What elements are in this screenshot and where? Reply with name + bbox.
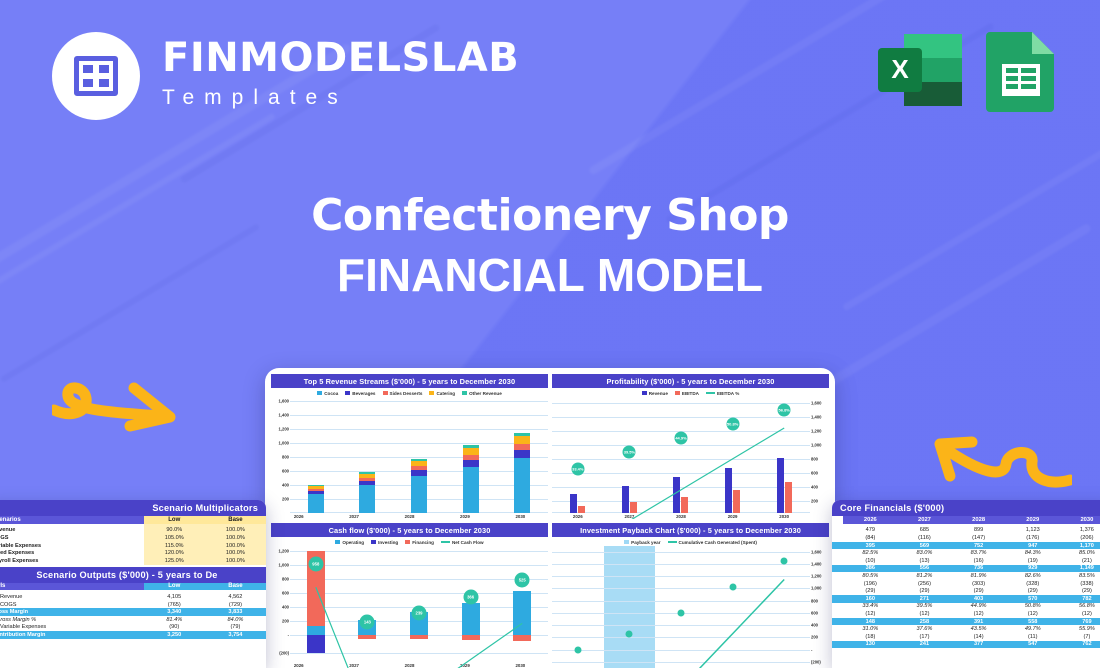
y-tick: 600 xyxy=(811,471,818,476)
hero-line-1: Confectionery Shop xyxy=(0,190,1100,242)
plot-area: 1,200 1,000 800 600 400 200 - (200) xyxy=(271,546,548,663)
data-point xyxy=(729,584,736,591)
cell: (196) xyxy=(843,580,897,588)
y-axis: 1,600 1,400 1,200 1,000 800 600 400 200 … xyxy=(810,546,829,668)
cell: 82.5% xyxy=(843,549,897,557)
cell: 769 xyxy=(1060,618,1100,626)
cell-low: (765) xyxy=(144,601,205,609)
col-header-2029: 2029 xyxy=(1006,516,1060,524)
y-tick: 400 xyxy=(282,605,289,610)
cell: 39.5% xyxy=(897,603,951,611)
cell: 685 xyxy=(897,527,951,535)
cell: (29) xyxy=(1006,587,1060,595)
y-axis: 1,600 1,400 1,200 1,000 800 600 400 200 xyxy=(271,397,290,514)
trend-line xyxy=(552,546,810,668)
cell: 84.3% xyxy=(1006,549,1060,557)
data-label-bubble: 39.5% xyxy=(623,446,636,459)
cell: (12) xyxy=(1006,610,1060,618)
legend-label: Sides Desserts xyxy=(390,391,423,396)
cell-base: 3,754 xyxy=(205,631,266,639)
col-header-2026: 2026 xyxy=(843,516,897,524)
table-row: (12) (12) (12) (12) (12) xyxy=(832,610,1100,618)
chart-title: Investment Payback Chart ($'000) - 5 yea… xyxy=(552,523,829,537)
table-row: Contribution Margin3,2503,754 xyxy=(0,631,266,639)
y-tick: 1,000 xyxy=(811,443,821,448)
table-row: Gross Margin3,3403,833 xyxy=(0,608,266,616)
legend-label: Payback year xyxy=(631,540,660,545)
cell: 271 xyxy=(897,595,951,603)
chart-investment-payback[interactable]: Investment Payback Chart ($'000) - 5 yea… xyxy=(552,523,829,668)
y-tick: 600 xyxy=(811,610,818,615)
data-point xyxy=(626,630,633,637)
curved-arrow-left-icon xyxy=(922,398,1072,495)
table-row: COGS(765)(729) xyxy=(0,601,266,609)
table-row: 82.5% 83.0% 83.7% 84.3% 85.0% xyxy=(832,549,1100,557)
cell-base: 100.0% xyxy=(205,557,266,565)
plot-area: 1,600 1,400 1,200 1,000 800 600 400 200 xyxy=(271,397,548,514)
cell: 752 xyxy=(952,542,1006,550)
scenario-multiplicators-banner: Scenario Multiplicators xyxy=(0,500,266,516)
data-label-bubble: 33.4% xyxy=(571,462,584,475)
y-axis: 1,600 1,400 1,200 1,000 800 600 400 200 xyxy=(810,397,829,514)
cell: 148 xyxy=(843,618,897,626)
logo-badge xyxy=(52,32,140,120)
table-row: (29) (29) (29) (29) (29) xyxy=(832,587,1100,595)
cell-base: 100.0% xyxy=(205,549,266,557)
legend-label: Other Revenue xyxy=(469,391,502,396)
col-header-2028: 2028 xyxy=(952,516,1006,524)
cell: 736 xyxy=(952,565,1006,573)
cell: (84) xyxy=(843,534,897,542)
cell: 160 xyxy=(843,595,897,603)
cell: 37.6% xyxy=(897,625,951,633)
cell: 1,376 xyxy=(1060,527,1100,535)
y-tick: 1,200 xyxy=(811,574,821,579)
legend-item: Sides Desserts xyxy=(383,391,423,396)
bar-series xyxy=(290,397,548,514)
data-label-bubble: 143 xyxy=(360,615,375,630)
cell: (12) xyxy=(897,610,951,618)
y-tick: 600 xyxy=(282,591,289,596)
cell: (19) xyxy=(1006,557,1060,565)
legend-label: Net Cash Flow xyxy=(452,540,484,545)
table-row: 80.5% 81.2% 81.9% 82.6% 83.5% xyxy=(832,572,1100,580)
cell: (176) xyxy=(1006,534,1060,542)
cell-low: 125.0% xyxy=(144,557,205,565)
y-tick: 200 xyxy=(282,619,289,624)
table-header-row: Scenarios Low Base xyxy=(0,516,266,524)
cell: 556 xyxy=(897,565,951,573)
chart-profitability[interactable]: Profitability ($'000) - 5 years to Decem… xyxy=(552,374,829,519)
row-label: Fixed Expenses xyxy=(0,549,144,557)
plot-area: 33.4% 39.5% 44.9% 50.8% 56.8% 1,600 1,40… xyxy=(552,397,829,514)
cell: 391 xyxy=(952,618,1006,626)
x-tick: 2027 xyxy=(326,514,381,519)
y-tick: 200 xyxy=(282,497,289,502)
row-label: Payroll Expenses xyxy=(0,557,144,565)
table-row: 395 569 752 947 1,170 xyxy=(832,542,1100,550)
plot-canvas xyxy=(290,397,548,514)
data-label-bubble: 958 xyxy=(308,557,323,572)
cell-base: 100.0% xyxy=(205,534,266,542)
table-row: 160 271 403 570 782 xyxy=(832,595,1100,603)
cell: 386 xyxy=(843,565,897,573)
cell: 241 xyxy=(897,641,951,649)
hero-title-block: Confectionery Shop FINANCIAL MODEL xyxy=(0,190,1100,302)
cell: 377 xyxy=(952,641,1006,649)
data-label-bubble: 56.8% xyxy=(778,404,791,417)
legend-label: EBITDA % xyxy=(717,391,739,396)
cell: 558 xyxy=(1006,618,1060,626)
y-tick: 1,200 xyxy=(279,549,289,554)
chart-legend: Cocoa Beverages Sides Desserts Catering … xyxy=(271,388,548,397)
col-header-2030: 2030 xyxy=(1060,516,1100,524)
cell-low: 90.0% xyxy=(144,527,205,535)
core-financials-banner: Core Financials ($'000) xyxy=(832,500,1100,516)
y-tick: (200) xyxy=(811,659,821,664)
chart-legend: Revenue EBITDA EBITDA % xyxy=(552,388,829,397)
cell: 85.0% xyxy=(1060,549,1100,557)
cell: 130 xyxy=(843,641,897,649)
x-axis: 2026 2027 2028 2029 2030 xyxy=(271,513,548,519)
cell: (16) xyxy=(952,557,1006,565)
col-header-kpis: KPIs xyxy=(0,583,144,591)
legend-item: Beverages xyxy=(345,391,375,396)
cell-base: 4,562 xyxy=(205,593,266,601)
scenario-multiplicators-table[interactable]: Scenarios Low Base Revenue90.0%100.0% CO… xyxy=(0,516,266,565)
table-row: 33.4% 39.5% 44.9% 50.8% 56.8% xyxy=(832,603,1100,611)
core-financials-table[interactable]: 2026 2027 2028 2029 2030 479 685 899 1,1… xyxy=(832,516,1100,648)
table-row: 479 685 899 1,123 1,376 xyxy=(832,527,1100,535)
chart-title: Profitability ($'000) - 5 years to Decem… xyxy=(552,374,829,388)
cell: (256) xyxy=(897,580,951,588)
table-row: Revenue90.0%100.0% xyxy=(0,527,266,535)
plot-canvas xyxy=(552,546,810,668)
cell-base: 3,833 xyxy=(205,608,266,616)
cell: 403 xyxy=(952,595,1006,603)
x-tick: 2029 xyxy=(437,514,492,519)
cell: 258 xyxy=(897,618,951,626)
cell: (14) xyxy=(952,633,1006,641)
cell: 569 xyxy=(897,542,951,550)
data-point xyxy=(781,558,788,565)
legend-label: Cumulative Cash Generated (Spent) xyxy=(679,540,757,545)
cell: (338) xyxy=(1060,580,1100,588)
legend-item: Revenue xyxy=(642,391,668,396)
legend-item: Catering xyxy=(429,391,455,396)
table-row: 386 556 736 929 1,149 xyxy=(832,565,1100,573)
row-label: COGS xyxy=(0,601,144,609)
cell: 1,170 xyxy=(1060,542,1100,550)
y-tick: 1,400 xyxy=(811,415,821,420)
legend-label: Operating xyxy=(342,540,364,545)
chart-title: Top 5 Revenue Streams ($'000) - 5 years … xyxy=(271,374,548,388)
x-tick: 2028 xyxy=(382,514,437,519)
chart-legend: Operating Investing Financing Net Cash F… xyxy=(271,537,548,546)
y-tick: 1,000 xyxy=(279,563,289,568)
cell: 44.9% xyxy=(952,603,1006,611)
cell-low: 4,105 xyxy=(144,593,205,601)
legend-item: Payback year xyxy=(624,540,660,545)
row-label: Contribution Margin xyxy=(0,631,144,639)
cell: (206) xyxy=(1060,534,1100,542)
dashboard-preview[interactable]: Top 5 Revenue Streams ($'000) - 5 years … xyxy=(265,368,835,668)
legend-label: Financing xyxy=(412,540,434,545)
cell-low: 115.0% xyxy=(144,542,205,550)
brand-tagline: Templates xyxy=(162,82,519,114)
core-financials-panel[interactable]: Core Financials ($'000) 2026 2027 2028 2… xyxy=(832,500,1100,668)
y-tick: 1,400 xyxy=(279,413,289,418)
cell: 82.6% xyxy=(1006,572,1060,580)
y-tick: - xyxy=(288,633,289,638)
cell: (18) xyxy=(843,633,897,641)
svg-text:X: X xyxy=(891,54,909,84)
cell-low: 3,250 xyxy=(144,631,205,639)
scenario-outputs-table[interactable]: KPIs Low Base Revenue4,1054,562 COGS(765… xyxy=(0,583,266,639)
y-tick: 200 xyxy=(811,635,818,640)
table-header-row: 2026 2027 2028 2029 2030 xyxy=(832,516,1100,524)
y-tick: 800 xyxy=(811,598,818,603)
table-row: (84) (116) (147) (176) (206) xyxy=(832,534,1100,542)
y-tick: - xyxy=(811,647,812,652)
file-format-icons: X xyxy=(876,28,1060,116)
col-header-base: Base xyxy=(205,516,266,524)
cell-low: (90) xyxy=(144,624,205,632)
cell: 83.0% xyxy=(897,549,951,557)
scenario-panel[interactable]: Scenario Multiplicators Scenarios Low Ba… xyxy=(0,500,266,668)
cell: 1,149 xyxy=(1060,565,1100,573)
cell: 43.5% xyxy=(952,625,1006,633)
legend-item: Investing xyxy=(371,540,398,545)
plot-canvas: 958 143 239 366 525 xyxy=(290,546,548,663)
col-header-base: Base xyxy=(205,583,266,591)
data-label-bubble: 366 xyxy=(463,589,478,604)
cell: (29) xyxy=(952,587,1006,595)
cell-low: 120.0% xyxy=(144,549,205,557)
hero-line-2: FINANCIAL MODEL xyxy=(0,248,1100,302)
chart-legend: Payback year Cumulative Cash Generated (… xyxy=(552,537,829,546)
chart-cash-flow[interactable]: Cash flow ($'000) - 5 years to December … xyxy=(271,523,548,668)
legend-item: Financing xyxy=(405,540,434,545)
col-header-scenarios: Scenarios xyxy=(0,516,144,524)
cell-base: 100.0% xyxy=(205,542,266,550)
legend-item: Net Cash Flow xyxy=(441,540,484,545)
grid-logo-icon xyxy=(74,56,118,96)
y-tick: 400 xyxy=(811,623,818,628)
cell: 479 xyxy=(843,527,897,535)
cell: 1,123 xyxy=(1006,527,1060,535)
curved-arrow-right-icon xyxy=(52,352,187,442)
legend-label: Cocoa xyxy=(324,391,338,396)
plot-area: 1,600 1,400 1,200 1,000 800 600 400 200 … xyxy=(552,546,829,668)
row-label: Gross Margin % xyxy=(0,616,144,624)
table-header-row: KPIs Low Base xyxy=(0,583,266,591)
chart-title: Cash flow ($'000) - 5 years to December … xyxy=(271,523,548,537)
cell: 83.5% xyxy=(1060,572,1100,580)
data-label-bubble: 50.8% xyxy=(726,418,739,431)
cell-low: 3,340 xyxy=(144,608,205,616)
legend-item: Other Revenue xyxy=(462,391,502,396)
cell-base: 84.0% xyxy=(205,616,266,624)
legend-label: Catering xyxy=(436,391,455,396)
cell: 395 xyxy=(843,542,897,550)
table-row: Variable Expenses(90)(79) xyxy=(0,624,266,632)
brand-name: FINMODELSLAB xyxy=(162,38,519,78)
cell-base: 100.0% xyxy=(205,527,266,535)
plot-canvas: 33.4% 39.5% 44.9% 50.8% 56.8% xyxy=(552,397,810,514)
cell: (11) xyxy=(1006,633,1060,641)
table-row: Revenue4,1054,562 xyxy=(0,593,266,601)
y-axis: 1,200 1,000 800 600 400 200 - (200) xyxy=(271,546,290,663)
cell: (13) xyxy=(897,557,951,565)
y-tick: 800 xyxy=(282,455,289,460)
table-row: Gross Margin %81.4%84.0% xyxy=(0,616,266,624)
y-tick: 800 xyxy=(811,457,818,462)
legend-item: Cumulative Cash Generated (Spent) xyxy=(668,540,757,545)
cell: 762 xyxy=(1060,641,1100,649)
legend-label: EBITDA xyxy=(682,391,699,396)
cell: (29) xyxy=(1060,587,1100,595)
brand-logo: FINMODELSLAB Templates xyxy=(52,32,519,120)
cell: (116) xyxy=(897,534,951,542)
legend-item: EBITDA % xyxy=(706,391,739,396)
data-label-bubble: 44.9% xyxy=(675,432,688,445)
table-row: (196) (256) (303) (328) (338) xyxy=(832,580,1100,588)
data-point xyxy=(678,609,685,616)
cell: (147) xyxy=(952,534,1006,542)
cell-low: 81.4% xyxy=(144,616,205,624)
cell: 899 xyxy=(952,527,1006,535)
legend-item: Operating xyxy=(335,540,364,545)
row-label: Revenue xyxy=(0,593,144,601)
x-tick: 2030 xyxy=(493,514,548,519)
cell: (12) xyxy=(843,610,897,618)
y-tick: 400 xyxy=(282,483,289,488)
y-tick: 400 xyxy=(811,485,818,490)
x-tick: 2026 xyxy=(271,514,326,519)
y-tick: 1,400 xyxy=(811,561,821,566)
google-sheets-icon xyxy=(982,28,1060,116)
cell: (303) xyxy=(952,580,1006,588)
legend-label: Revenue xyxy=(649,391,668,396)
cell: 55.9% xyxy=(1060,625,1100,633)
cell: (29) xyxy=(843,587,897,595)
y-tick: 1,200 xyxy=(279,427,289,432)
y-tick: 800 xyxy=(282,577,289,582)
table-row: COGS105.0%100.0% xyxy=(0,534,266,542)
cell: 56.8% xyxy=(1060,603,1100,611)
cell: 33.4% xyxy=(843,603,897,611)
col-header-2027: 2027 xyxy=(897,516,951,524)
cell: (7) xyxy=(1060,633,1100,641)
cell: (21) xyxy=(1060,557,1100,565)
data-label-bubble: 239 xyxy=(412,606,427,621)
cell: (12) xyxy=(952,610,1006,618)
table-row: 130 241 377 547 762 xyxy=(832,641,1100,649)
table-row: 148 258 391 558 769 xyxy=(832,618,1100,626)
legend-label: Investing xyxy=(378,540,398,545)
y-tick: 1,600 xyxy=(279,399,289,404)
data-point xyxy=(574,646,581,653)
cell: 81.9% xyxy=(952,572,1006,580)
col-header-low: Low xyxy=(144,516,205,524)
y-tick: (200) xyxy=(279,650,289,655)
legend-label: Beverages xyxy=(352,391,375,396)
cell: 50.8% xyxy=(1006,603,1060,611)
y-tick: 1,600 xyxy=(811,401,821,406)
col-header-low: Low xyxy=(144,583,205,591)
data-label-bubble: 525 xyxy=(515,573,530,588)
cell: 80.5% xyxy=(843,572,897,580)
y-tick: 600 xyxy=(282,469,289,474)
cell: 49.7% xyxy=(1006,625,1060,633)
cell: (10) xyxy=(843,557,897,565)
y-tick: 200 xyxy=(811,499,818,504)
cell: (328) xyxy=(1006,580,1060,588)
cell-low: 105.0% xyxy=(144,534,205,542)
table-row: (18) (17) (14) (11) (7) xyxy=(832,633,1100,641)
y-tick: 1,600 xyxy=(811,549,821,554)
cell: 547 xyxy=(1006,641,1060,649)
table-row: (10) (13) (16) (19) (21) xyxy=(832,557,1100,565)
table-row: Variable Expenses115.0%100.0% xyxy=(0,542,266,550)
cell: 570 xyxy=(1006,595,1060,603)
legend-item: EBITDA xyxy=(675,391,699,396)
row-label: Gross Margin xyxy=(0,608,144,616)
cell: 929 xyxy=(1006,565,1060,573)
row-label: Variable Expenses xyxy=(0,624,144,632)
cell: 782 xyxy=(1060,595,1100,603)
cell: 31.0% xyxy=(843,625,897,633)
y-tick: 1,000 xyxy=(811,586,821,591)
scenario-outputs-banner: Scenario Outputs ($'000) - 5 years to De xyxy=(0,567,266,583)
cell-base: (79) xyxy=(205,624,266,632)
chart-revenue-streams[interactable]: Top 5 Revenue Streams ($'000) - 5 years … xyxy=(271,374,548,519)
y-tick: 1,200 xyxy=(811,429,821,434)
legend-item: Cocoa xyxy=(317,391,338,396)
cell: (12) xyxy=(1060,610,1100,618)
cell: 947 xyxy=(1006,542,1060,550)
table-row: Fixed Expenses120.0%100.0% xyxy=(0,549,266,557)
trend-line xyxy=(552,397,810,520)
table-row: 31.0% 37.6% 43.5% 49.7% 55.9% xyxy=(832,625,1100,633)
excel-icon: X xyxy=(876,28,964,112)
cell: (29) xyxy=(897,587,951,595)
y-tick: 1,000 xyxy=(279,441,289,446)
row-label: COGS xyxy=(0,534,144,542)
cell: 81.2% xyxy=(897,572,951,580)
cell: (17) xyxy=(897,633,951,641)
cell-base: (729) xyxy=(205,601,266,609)
cell: 83.7% xyxy=(952,549,1006,557)
table-row: Payroll Expenses125.0%100.0% xyxy=(0,557,266,565)
row-label: Revenue xyxy=(0,527,144,535)
row-label: Variable Expenses xyxy=(0,542,144,550)
